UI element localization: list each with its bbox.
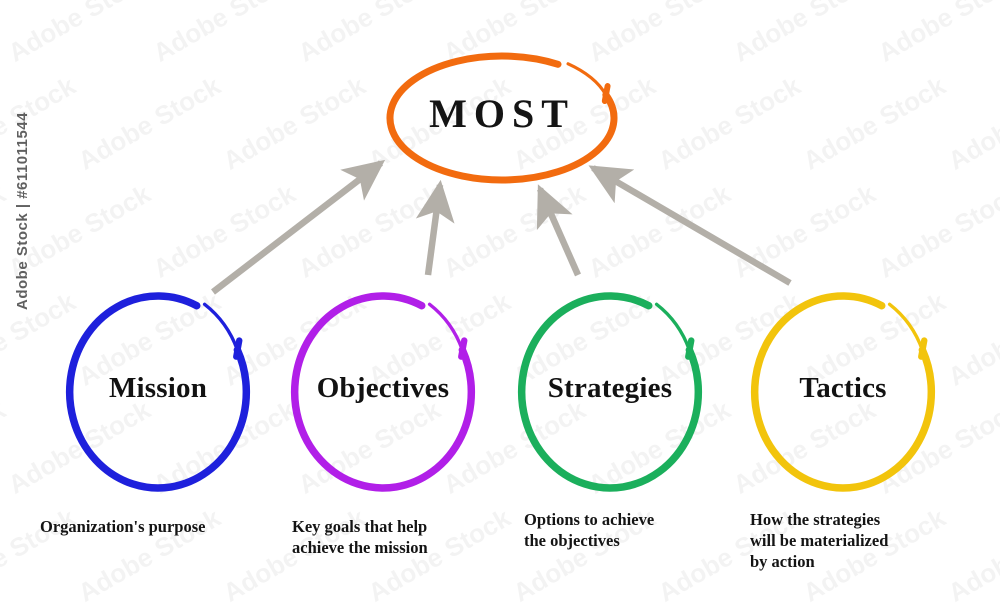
node-label-mission: Mission bbox=[38, 372, 278, 405]
arrow-tactics-to-most bbox=[593, 168, 790, 283]
node-label-objectives: Objectives bbox=[263, 372, 503, 405]
arrow-mission-to-most bbox=[213, 163, 381, 292]
diagram-canvas: Adobe StockAdobe StockAdobe StockAdobe S… bbox=[0, 0, 1000, 607]
node-label-strategies: Strategies bbox=[490, 372, 730, 405]
caption-tactics: How the strategies will be materialized … bbox=[750, 509, 955, 572]
arrow-objectives-to-most bbox=[428, 185, 440, 275]
node-label-tactics: Tactics bbox=[723, 372, 963, 405]
caption-strategies: Options to achieve the objectives bbox=[524, 509, 719, 551]
arrow-strategies-to-most bbox=[540, 189, 578, 275]
node-label-most: MOST bbox=[342, 90, 662, 137]
caption-objectives: Key goals that help achieve the mission bbox=[292, 516, 492, 558]
stock-credit-watermark: Adobe Stock | #611011544 bbox=[14, 112, 31, 310]
caption-mission: Organization's purpose bbox=[40, 516, 290, 537]
